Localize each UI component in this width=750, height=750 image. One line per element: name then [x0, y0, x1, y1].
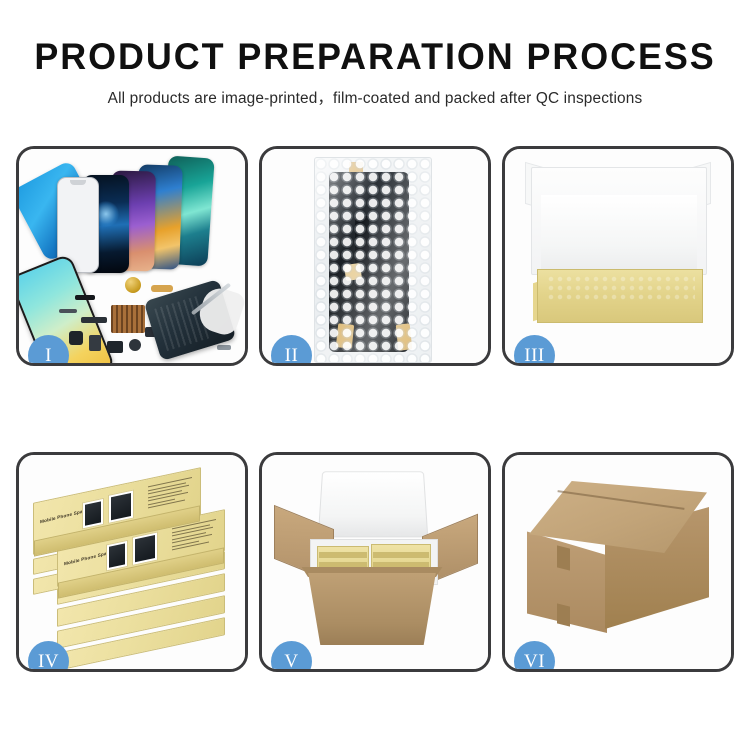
step-4-photo: Mobile Phone Spare Parts Mobile Phone Sp…	[19, 455, 245, 669]
part-speaker-box	[107, 341, 123, 353]
step-panel-1: I	[16, 146, 248, 366]
step-2-photo	[262, 149, 488, 363]
packed-box-edge	[319, 552, 367, 558]
step-3-photo	[505, 149, 731, 363]
plastic-sheen	[315, 158, 431, 362]
box-window-left	[106, 540, 128, 572]
part-button	[129, 339, 141, 351]
step-panel-5: V	[259, 452, 491, 672]
speaker-part-icon	[125, 277, 141, 293]
foam-sheet	[541, 195, 697, 279]
product-preparation-process-page: PRODUCT PREPARATION PROCESS All products…	[0, 0, 750, 750]
step-5-photo	[262, 455, 488, 669]
carton-tape-upper	[557, 545, 570, 570]
part-vibrator	[89, 335, 101, 351]
part-ribbon-cable	[81, 317, 107, 323]
part-antenna-strip	[59, 309, 77, 313]
foam-lid	[318, 471, 429, 537]
box-window-left	[82, 498, 104, 530]
bubble-wrapped-contents	[547, 275, 695, 303]
step-1-photo	[19, 149, 245, 363]
step-panel-6: VI	[502, 452, 734, 672]
retail-box-stack: Mobile Phone Spare Parts Mobile Phone Sp…	[27, 465, 239, 661]
process-steps-grid: I II	[16, 146, 734, 672]
page-header: PRODUCT PREPARATION PROCESS All products…	[0, 0, 750, 108]
page-title: PRODUCT PREPARATION PROCESS	[11, 38, 739, 75]
box-window-right	[132, 531, 158, 566]
step-6-photo	[505, 455, 731, 669]
part-flex-cable	[75, 295, 95, 300]
step-panel-4: Mobile Phone Spare Parts Mobile Phone Sp…	[16, 452, 248, 672]
step-panel-3: III	[502, 146, 734, 366]
carton-tape-lower	[557, 603, 570, 626]
page-subtitle: All products are image-printed，film-coat…	[0, 86, 750, 108]
part-gold-connector	[151, 285, 173, 292]
packed-box-edge	[373, 552, 429, 558]
part-camera-module	[69, 331, 83, 345]
box-window-right	[108, 489, 134, 524]
chip-array-part	[111, 305, 145, 333]
part-screwdriver-tip	[217, 345, 231, 350]
bubble-wrap-bag	[314, 157, 432, 363]
carton-body	[296, 573, 448, 645]
phone-display-fan	[49, 155, 245, 275]
step-panel-2: II	[259, 146, 491, 366]
